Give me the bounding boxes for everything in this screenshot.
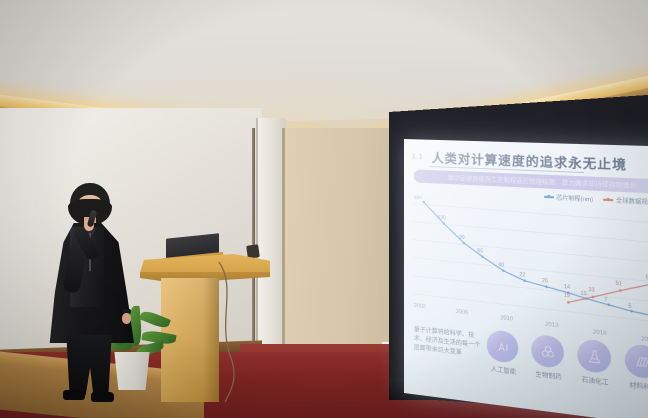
legend-label-chip-process: 芯片制程(nm)	[556, 193, 593, 203]
slide-number: 1.1	[412, 153, 423, 160]
svg-text:51: 51	[616, 280, 623, 287]
presentation-slide: 1.1 人类对计算速度的追求永无止境 摩尔定律放缓而工艺制程逼近物理极限，算力需…	[404, 139, 648, 418]
presenter-legs	[62, 335, 116, 395]
icon-label-materials: 材料科学	[625, 379, 648, 393]
presenter-right-hand	[122, 313, 131, 324]
petrochemical-icon	[577, 338, 611, 374]
svg-text:10: 10	[581, 291, 588, 298]
svg-text:5: 5	[628, 303, 632, 310]
svg-text:180: 180	[414, 195, 422, 201]
x-tick-2013: 2013	[545, 321, 558, 329]
svg-text:20: 20	[542, 278, 548, 285]
icon-label-petrochemical: 石油化工	[577, 374, 613, 388]
icon-item-ai[interactable]: 人工智能	[487, 329, 521, 376]
ai-icon	[487, 329, 519, 364]
legend-line-icon-blue	[544, 196, 554, 198]
svg-text:65: 65	[477, 248, 483, 255]
svg-text:7: 7	[604, 297, 607, 304]
biopharma-icon	[531, 334, 564, 369]
materials-science-icon	[625, 343, 648, 380]
x-tick-2020: 2020	[641, 336, 648, 344]
presenter-shoe-left	[63, 390, 85, 400]
presenter	[44, 183, 154, 403]
svg-text:40: 40	[498, 262, 504, 269]
icon-label-ai: 人工智能	[487, 363, 521, 376]
svg-text:19: 19	[564, 292, 570, 299]
svg-text:14: 14	[564, 284, 570, 291]
svg-text:90: 90	[459, 235, 465, 242]
photo-scene: 1.1 人类对计算速度的追求永无止境 摩尔定律放缓而工艺制程逼近物理极限，算力需…	[0, 0, 648, 418]
x-tick-2006: 2006	[456, 309, 469, 316]
legend-line-icon-red	[603, 199, 613, 201]
icon-item-petrochemical[interactable]: 石油化工	[577, 338, 613, 387]
icon-item-materials[interactable]: 材料科学	[625, 343, 648, 393]
icon-label-biopharma: 生物制药	[531, 368, 566, 382]
projection-screen[interactable]: 1.1 人类对计算速度的追求永无止境 摩尔定律放缓而工艺制程逼近物理极限，算力需…	[404, 139, 648, 418]
x-tick-2010: 2010	[500, 315, 513, 322]
series-markers-chip-process	[422, 201, 648, 318]
x-tick-2016: 2016	[593, 329, 607, 337]
microphone-clip	[246, 244, 260, 259]
svg-text:130: 130	[438, 215, 447, 222]
icon-item-biopharma[interactable]: 生物制药	[531, 334, 566, 382]
slide-note-text: 量子计算将给科学、技术、经济及生活的每一个层面带来巨大变革	[414, 326, 481, 361]
power-cable	[215, 262, 255, 402]
x-tick-2002: 2002	[414, 303, 426, 310]
slide-icon-row: 人工智能 生物制药 石油化工	[487, 329, 648, 393]
svg-text:33: 33	[588, 287, 595, 294]
svg-text:22: 22	[519, 272, 525, 279]
presenter-shoe-right	[91, 392, 114, 402]
